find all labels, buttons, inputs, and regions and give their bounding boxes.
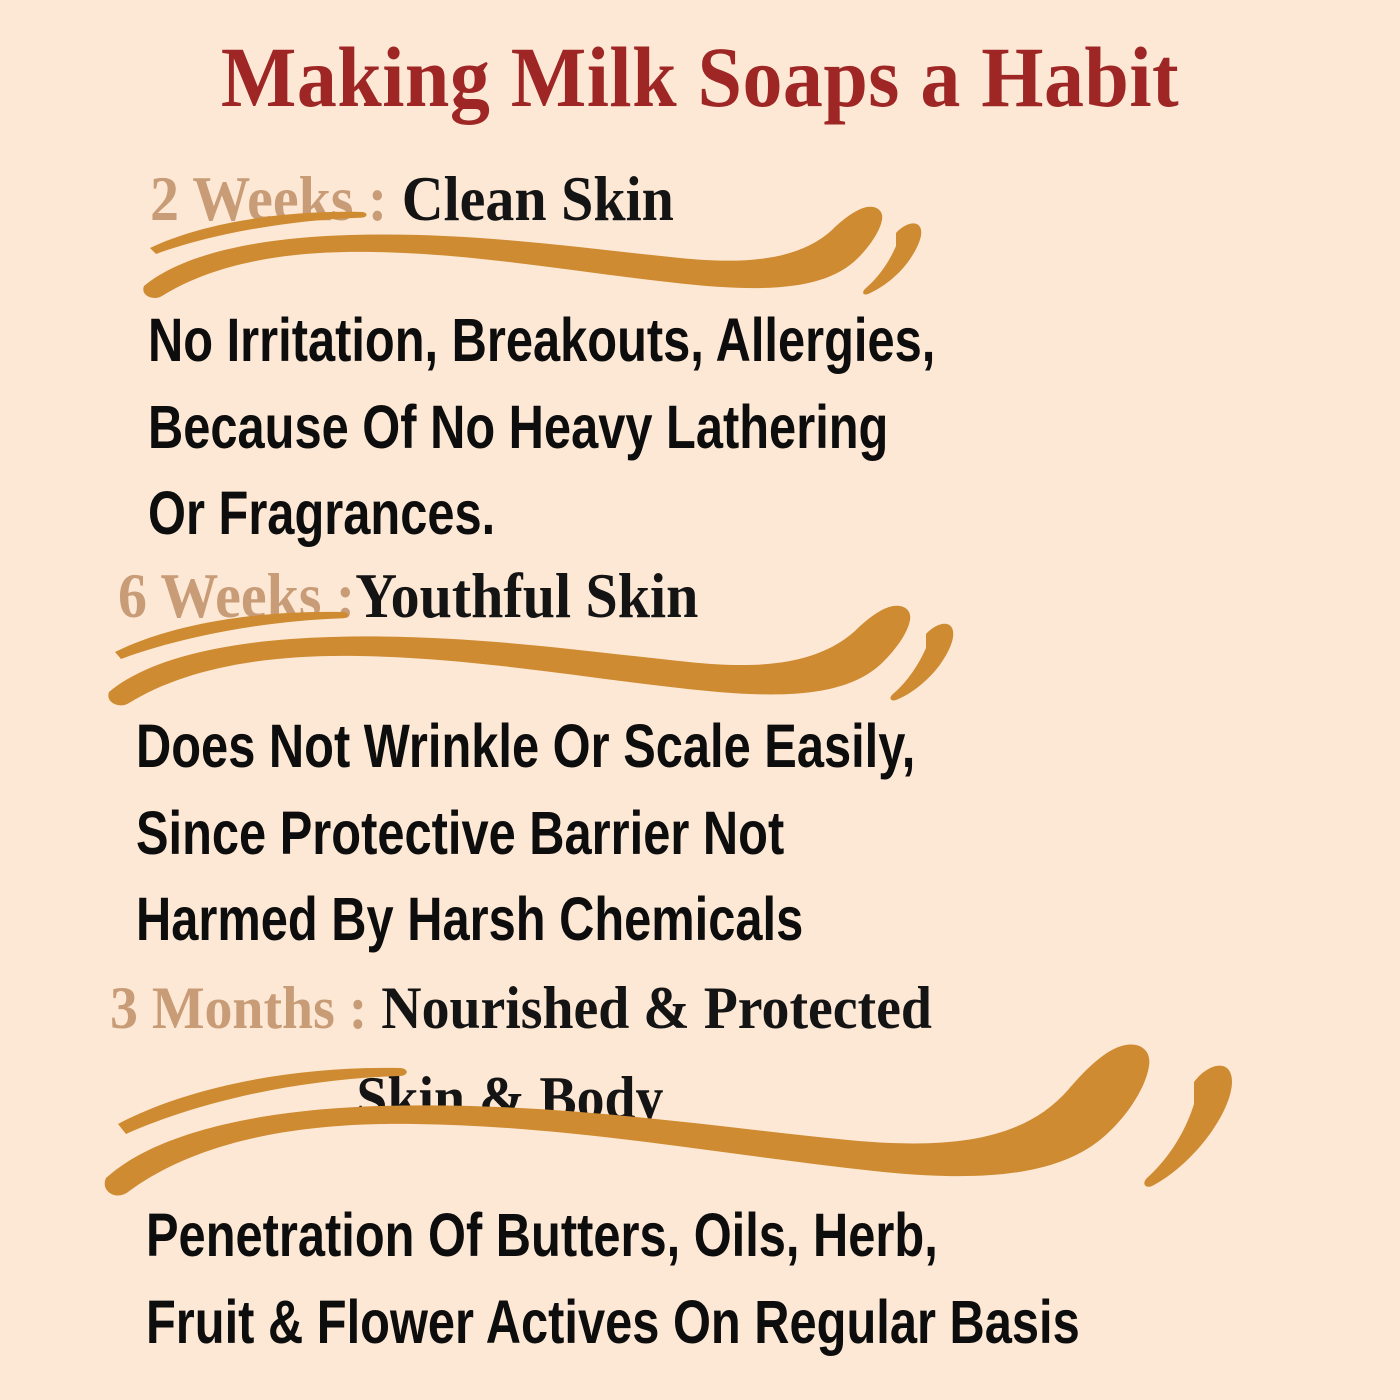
section-benefit-label-2: Youthful Skin [355,561,698,631]
section-benefit-label-3-line2: Skin & Body [110,1068,1217,1128]
section-period-label-2: 6 Weeks : [118,561,355,631]
section-heading-6-weeks: 6 Weeks :Youthful Skin [118,565,698,628]
section-heading-3-months: 3 Months : Nourished & Protected Skin & … [110,978,1217,1128]
page-title: Making Milk Soaps a Habit [49,34,1351,120]
section-heading-2-weeks: 2 Weeks : Clean Skin [150,168,674,231]
poster-canvas: Making Milk Soaps a Habit 2 Weeks : Clea… [0,0,1400,1400]
section-benefit-label-3: Nourished & Protected [381,975,932,1041]
section-body-3: Penetration Of Butters, Oils, Herb, Frui… [146,1192,1080,1365]
section-period-label-1: 2 Weeks : [150,164,402,234]
section-body-1: No Irritation, Breakouts, Allergies, Bec… [148,297,935,557]
section-body-2: Does Not Wrinkle Or Scale Easily, Since … [136,703,915,963]
section-benefit-label-1: Clean Skin [402,164,674,234]
section-period-label-3: 3 Months : [110,975,381,1041]
